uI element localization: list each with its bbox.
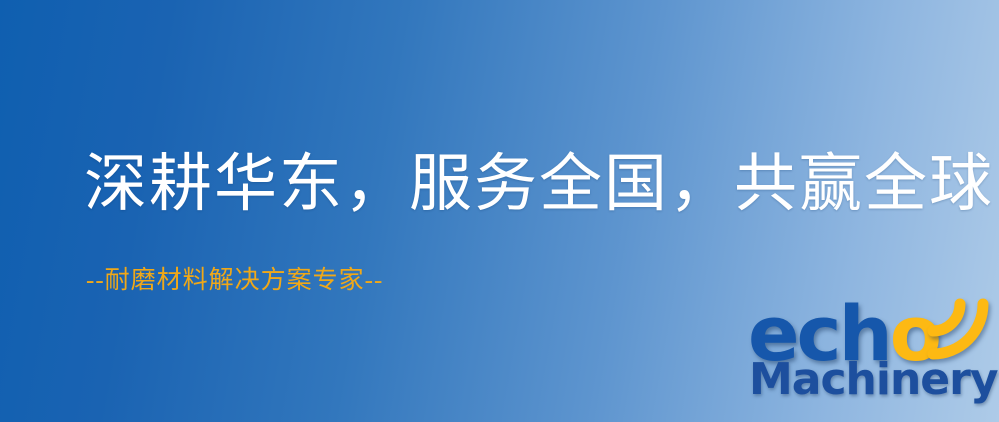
- page-title: 深耕华东，服务全国，共赢全球: [84, 153, 994, 216]
- hero-banner: 深耕华东，服务全国，共赢全球 --耐磨材料解决方案专家-- echo Machi…: [0, 0, 999, 422]
- company-logo[interactable]: echo Machinery®: [745, 296, 995, 420]
- page-subtitle: --耐磨材料解决方案专家--: [86, 268, 383, 293]
- logo-brand-secondary-group: Machinery®: [749, 358, 999, 402]
- logo-brand-secondary: Machinery: [749, 354, 998, 405]
